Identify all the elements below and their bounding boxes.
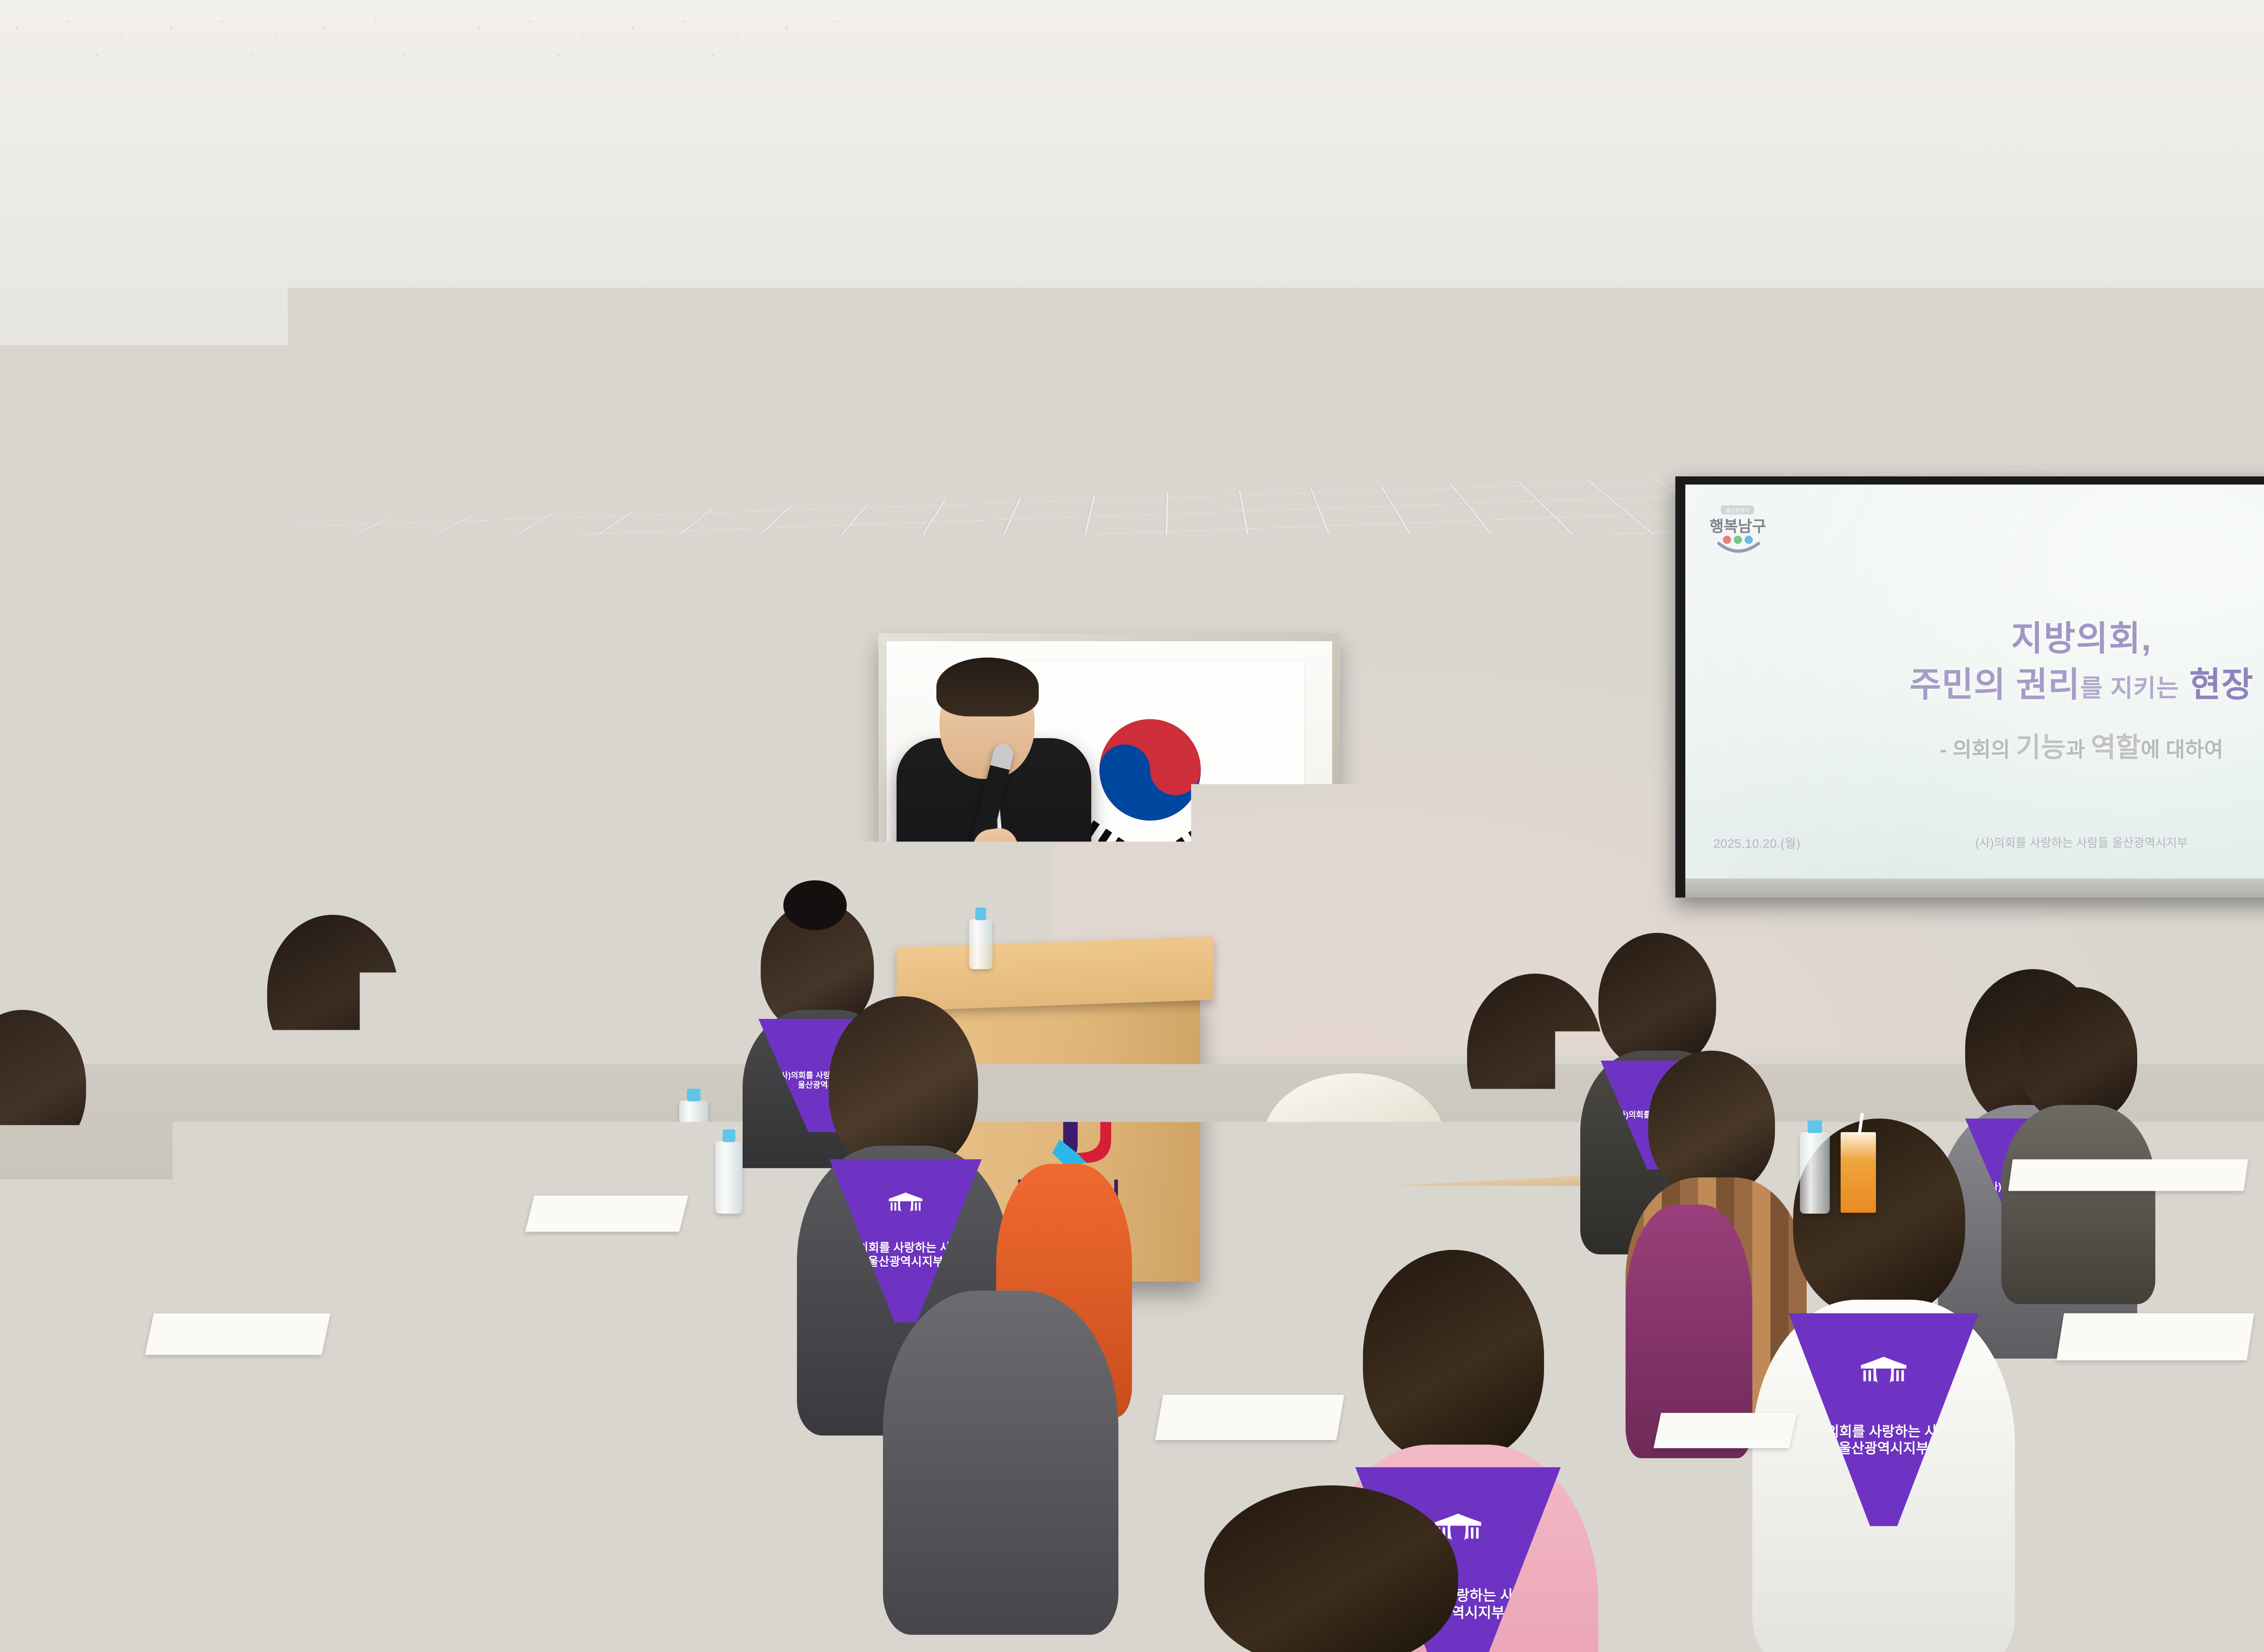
paper-handout[interactable] xyxy=(2008,1159,2248,1191)
blind-cord[interactable] xyxy=(247,358,249,892)
slide-title-seg-d: 현장 xyxy=(2179,666,2254,704)
water-bottle[interactable] xyxy=(679,1100,708,1177)
slide-title-seg-c: 지키는 xyxy=(2111,675,2179,702)
water-bottle[interactable] xyxy=(715,1141,743,1214)
audience-hair-bun xyxy=(783,880,847,930)
paper-handout[interactable] xyxy=(1654,1413,1797,1448)
subtitle-mid: 과 xyxy=(2066,738,2091,761)
logo-upper-text: 울산광역시 xyxy=(1726,508,1749,514)
audience-body xyxy=(0,1295,158,1639)
bottle-cap xyxy=(975,908,987,920)
logo-main-text: 행복남구 xyxy=(1709,518,1766,536)
subtitle-keyword-2: 역할 xyxy=(2091,732,2140,763)
screen-bottom-casing xyxy=(1685,879,2264,898)
audience-head xyxy=(521,942,634,1069)
audience-body xyxy=(2001,1105,2155,1304)
bottle-cap xyxy=(1808,1120,1822,1133)
sash-line2: 울산광역시지부 xyxy=(139,1145,197,1155)
window-glass xyxy=(0,353,36,769)
water-bottle[interactable] xyxy=(1800,1132,1830,1214)
projection-screen[interactable]: 울산광역시 행복남구 지방의회, 주민의 권리를 지키는 현장 - 의회의 기능… xyxy=(1685,485,2264,883)
assembly-building-icon xyxy=(887,1192,924,1212)
slide-title-seg-a: 주민의 권리 xyxy=(1909,666,2080,704)
seminar-room-photo: ULSAN RISING CITY 울산광역시 행복남구 지방의회, 주민의 권… xyxy=(0,0,2264,1652)
assembly-building-icon xyxy=(1513,559,1667,634)
assembly-building-icon xyxy=(1859,1356,1908,1383)
sash-line2: 울산광역시지부 xyxy=(1507,1197,1572,1209)
slide-title-seg-b: 를 xyxy=(2080,675,2111,702)
audience-head xyxy=(1363,1250,1544,1463)
subtitle-post: 에 대하여 xyxy=(2141,738,2223,761)
assembly-building-icon xyxy=(154,1104,181,1118)
assembly-building-icon xyxy=(325,1090,354,1107)
sash-line2: 울산광역시지부 xyxy=(868,1255,943,1268)
happy-namgu-logo-icon: 울산광역시 행복남구 xyxy=(1709,502,1769,559)
slide-subtitle: - 의회의 기능과 역할에 대하여 xyxy=(1685,725,2264,765)
audience-head xyxy=(267,915,398,1069)
audience-head xyxy=(1598,933,1716,1069)
slide-title-block: 지방의회, 주민의 권리를 지키는 현장 xyxy=(1685,616,2264,708)
water-bottle[interactable] xyxy=(2246,1177,2264,1257)
subtitle-keyword-1: 기능 xyxy=(2016,732,2066,763)
slide-organization: (사)의회를 사랑하는 사람들 울산광역시지부 xyxy=(1685,834,2264,850)
pink-shopping-bag[interactable] xyxy=(217,1372,371,1544)
paper-handout[interactable] xyxy=(525,1196,688,1232)
sash-line1: (사)의회를 사랑하는 사람들 xyxy=(283,1124,396,1136)
water-bottle[interactable] xyxy=(109,1205,137,1282)
sash-line1: (사)의회를 사랑하는 사람들 xyxy=(1483,1186,1596,1197)
slide-title-line2: 주민의 권리를 지키는 현장 xyxy=(1685,662,2264,708)
speaker-hair xyxy=(936,658,1039,716)
ac-grille xyxy=(1919,206,2264,302)
bottle-cap xyxy=(687,1089,701,1101)
slide-title-line1: 지방의회, xyxy=(1685,616,2264,662)
paper-handout[interactable] xyxy=(1155,1395,1344,1440)
bottle-cap xyxy=(2254,1166,2264,1178)
local-council-banner xyxy=(1422,488,1688,723)
audience-head xyxy=(2019,987,2137,1123)
podium-desktop xyxy=(897,936,1214,1011)
sash-line2: 울산광역시지부 xyxy=(307,1136,372,1148)
audience-head xyxy=(1648,1051,1775,1196)
bottle-cap xyxy=(116,1193,130,1205)
paper-handout[interactable] xyxy=(145,1313,331,1355)
sash-line2: 울산광역시지부 xyxy=(1838,1441,1929,1456)
sash-line1: (사)의회를 사랑하는 사람들 xyxy=(116,1134,219,1144)
water-bottle[interactable] xyxy=(969,919,993,969)
subtitle-pre: - 의회의 xyxy=(1940,738,2016,761)
pink-shopping-bag[interactable] xyxy=(2201,1513,2264,1648)
bottle-cap xyxy=(723,1129,736,1142)
blind-cord[interactable] xyxy=(229,358,230,892)
juice-box[interactable] xyxy=(1841,1132,1876,1213)
audience-body xyxy=(883,1291,1118,1635)
sash-line1: (사)의회를 사랑하는 사람들 xyxy=(538,1107,630,1116)
paper-handout[interactable] xyxy=(2057,1313,2254,1360)
